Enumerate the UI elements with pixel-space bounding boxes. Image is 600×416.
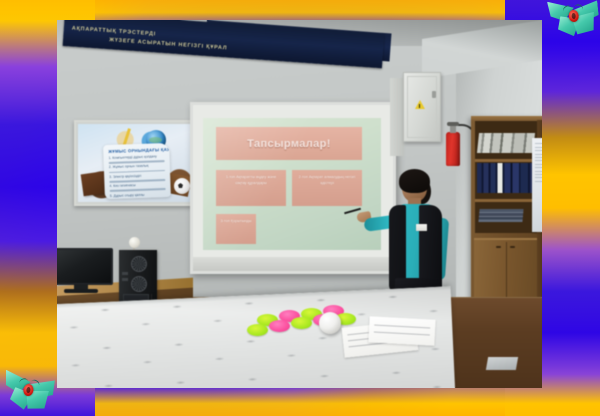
butterfly-top-right [546,0,600,43]
sticky-note-pink[interactable] [269,320,290,332]
notice-line [535,143,542,144]
panel-latch[interactable] [432,91,436,98]
screenshot-root: ТРЭСТЕРДІ АҚПАРАТТЫҚ ТРЭСТЕРДІ ЖҮЗЕГЕ АС… [0,0,600,416]
webcam-icon [129,237,140,248]
classroom-photo: ТРЭСТЕРДІ АҚПАРАТТЫҚ ТРЭСТЕРДІ ЖҮЗЕГЕ АС… [57,20,542,388]
paper-rule [374,332,430,336]
teacher-hair [399,169,430,193]
notice-line [535,150,542,151]
tower-fan-top [131,256,147,272]
door-handle-right[interactable] [510,246,515,248]
floor-object [486,357,518,370]
notice-line [535,157,542,158]
shelf-binders [477,163,535,193]
soccer-ball-icon [174,178,190,194]
monitor-screen [57,248,113,285]
shelf-divider-2 [475,199,537,202]
wall-banner-line1: АҚПАРАТТЫҚ ТРЭСТЕРДІ [72,26,157,38]
tower-fan-bottom [131,276,147,292]
fire-extinguisher [446,122,460,166]
electrical-panel[interactable] [403,72,441,142]
poster-text-panel: ЖҰМЫС ОРНЫНДАҒЫ ҚАУІПСІЗДІК 1. Компьютер… [103,143,171,199]
slide-title: Тапсырмалар! [247,138,331,150]
shelf-books [477,133,535,153]
name-badge [416,224,427,231]
extinguisher-handle [447,122,459,126]
notice-line [535,154,542,155]
notice-line [535,164,542,165]
wall-recess-panel [390,78,404,156]
monitor-base [64,289,98,293]
white-ball[interactable] [319,312,341,334]
poster-line-5: 5. Дұрыс отыру қалпы [110,192,166,199]
slide-task-box-2: 2-топ Ақпарат алмасудың негізгі әдістері [292,170,362,206]
bookcase-open-shelves [475,121,537,233]
notice-line [535,167,542,168]
notice-line [535,181,542,182]
wall-poster: ЖҰМЫС ОРНЫНДАҒЫ ҚАУІПСІЗДІК 1. Компьютер… [74,120,200,206]
wall-notice-sheet [532,138,542,232]
notice-line [535,160,542,161]
slide-task-box-1: 1-топ Ақпаратты өңдеу және сақтау құралд… [216,170,286,206]
shelf-divider-1 [475,159,537,162]
sticky-note-green[interactable] [291,317,312,329]
notice-line [535,171,542,172]
poster-line-2: 2. Жұмыс орнын тазалық [109,163,165,170]
notice-line [535,174,542,175]
slide-title-box: Тапсырмалар! [216,127,362,160]
sticky-note-green[interactable] [247,324,268,336]
butterfly-bottom-left [0,369,57,416]
notice-line [535,177,542,178]
monitor [57,248,113,292]
shelf-stacked-papers [478,209,523,222]
table-paper-2[interactable] [368,316,435,345]
projected-slide: Тапсырмалар! 1-топ Ақпаратты өңдеу және … [203,118,381,250]
extinguisher-body [446,132,460,166]
slide-task-text-2: 2-топ Ақпарат алмасудың негізгі әдістері [296,175,358,186]
electric-warning-icon [415,100,425,109]
notice-line [535,147,542,148]
tower-port-2 [122,278,128,281]
paper-rule [374,325,430,329]
tower-port-1 [122,272,128,275]
wall-banner-line2: ЖҮЗЕГЕ АСЫРАТЫН НЕГІЗГІ ҚҰРАЛ [109,37,228,51]
slide-task-box-3: 3-топ Қорытынды [216,214,256,244]
slide-task-text-3: 3-топ Қорытынды [220,219,252,225]
extinguisher-neck [450,125,456,133]
poster-title: ЖҰМЫС ОРНЫНДАҒЫ ҚАУІПСІЗДІК [108,147,164,154]
slide-task-text-1: 1-топ Ақпаратты өңдеу және сақтау құралд… [220,175,282,186]
door-handle-left[interactable] [496,246,501,248]
